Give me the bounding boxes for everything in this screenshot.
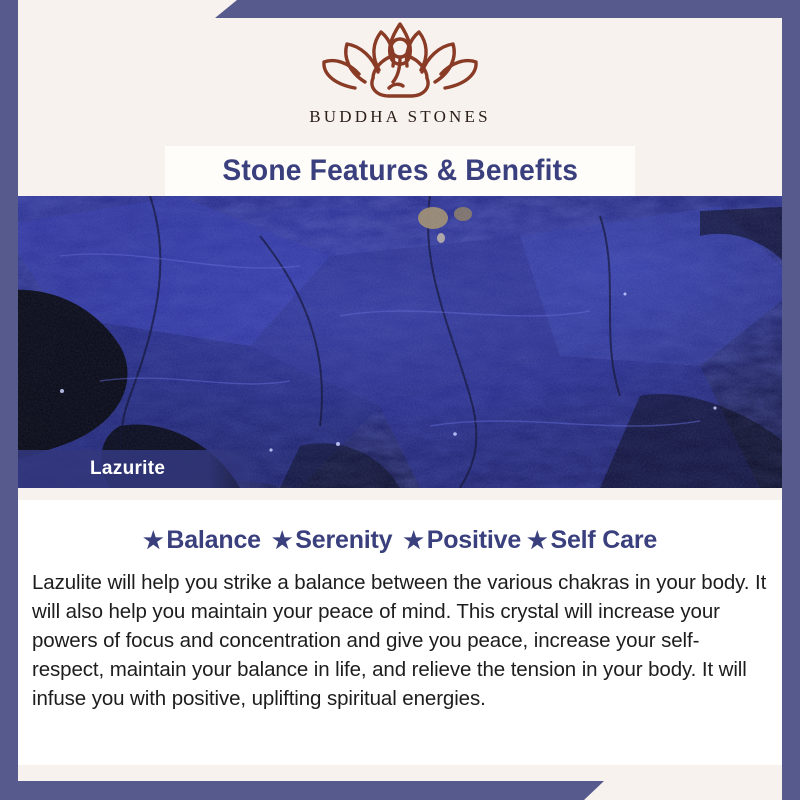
benefit-label-1: Balance <box>166 526 261 554</box>
benefit-label-3: Positive <box>427 526 521 554</box>
brand-name: BUDDHA STONES <box>0 107 800 127</box>
benefit-label-2: Serenity <box>295 526 392 554</box>
decorative-band-top <box>215 0 800 18</box>
stone-info-poster: BUDDHA STONES Stone Features & Benefits <box>0 0 800 800</box>
brand-logo: BUDDHA STONES <box>0 16 800 127</box>
decorative-band-left <box>0 0 18 800</box>
decorative-band-right <box>782 0 800 800</box>
panel-divider <box>18 488 782 500</box>
star-icon-3: ★ <box>403 527 423 553</box>
stone-name: Lazurite <box>90 458 165 480</box>
title-banner: Stone Features & Benefits <box>165 146 635 196</box>
benefits-list: ★Balance★Serenity★Positive★Self Care <box>18 526 782 555</box>
stone-photo <box>0 196 800 488</box>
star-icon-1: ★ <box>143 527 163 553</box>
star-icon-4: ★ <box>527 527 547 553</box>
stone-name-bar: Lazurite <box>18 450 250 488</box>
page-title: Stone Features & Benefits <box>222 154 578 188</box>
decorative-band-bottom <box>0 781 604 800</box>
lotus-meditation-icon <box>315 16 485 102</box>
star-icon-2: ★ <box>272 527 292 553</box>
stone-description: Lazulite will help you strike a balance … <box>32 568 768 713</box>
lazurite-texture <box>0 196 800 488</box>
content-panel: ★Balance★Serenity★Positive★Self Care Laz… <box>18 500 782 765</box>
benefit-label-4: Self Care <box>550 526 657 554</box>
